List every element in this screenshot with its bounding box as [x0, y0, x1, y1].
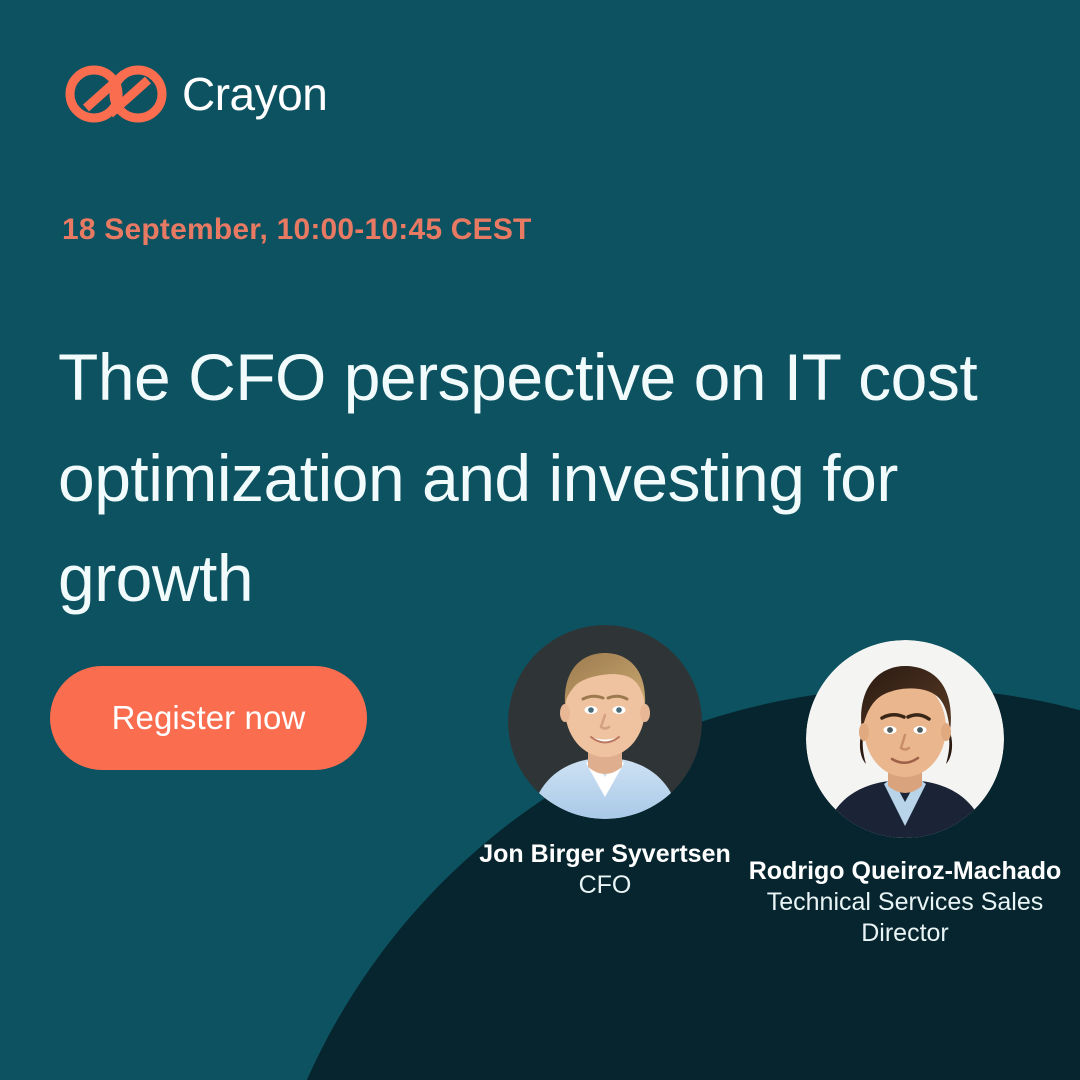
avatar	[806, 640, 1004, 838]
speaker-name: Jon Birger Syvertsen	[479, 839, 731, 870]
promo-banner: Crayon 18 September, 10:00-10:45 CEST Th…	[0, 0, 1080, 1080]
speaker-name: Rodrigo Queiroz-Machado	[749, 856, 1062, 887]
register-now-button[interactable]: Register now	[50, 666, 367, 770]
crayon-logo[interactable]: Crayon	[64, 60, 327, 128]
event-schedule: 18 September, 10:00-10:45 CEST	[62, 213, 532, 247]
speaker-card: Jon Birger Syvertsen CFO	[455, 625, 755, 901]
page-title: The CFO perspective on IT cost optimizat…	[58, 327, 978, 628]
speaker-role: CFO	[579, 870, 632, 901]
speaker-role: Technical Services Sales Director	[760, 887, 1050, 948]
avatar	[508, 625, 702, 819]
speaker-card: Rodrigo Queiroz-Machado Technical Servic…	[755, 640, 1055, 948]
crayon-infinity-logo-icon	[64, 60, 168, 128]
crayon-wordmark: Crayon	[182, 71, 327, 117]
speaker-list: Jon Birger Syvertsen CFO	[455, 625, 1080, 948]
